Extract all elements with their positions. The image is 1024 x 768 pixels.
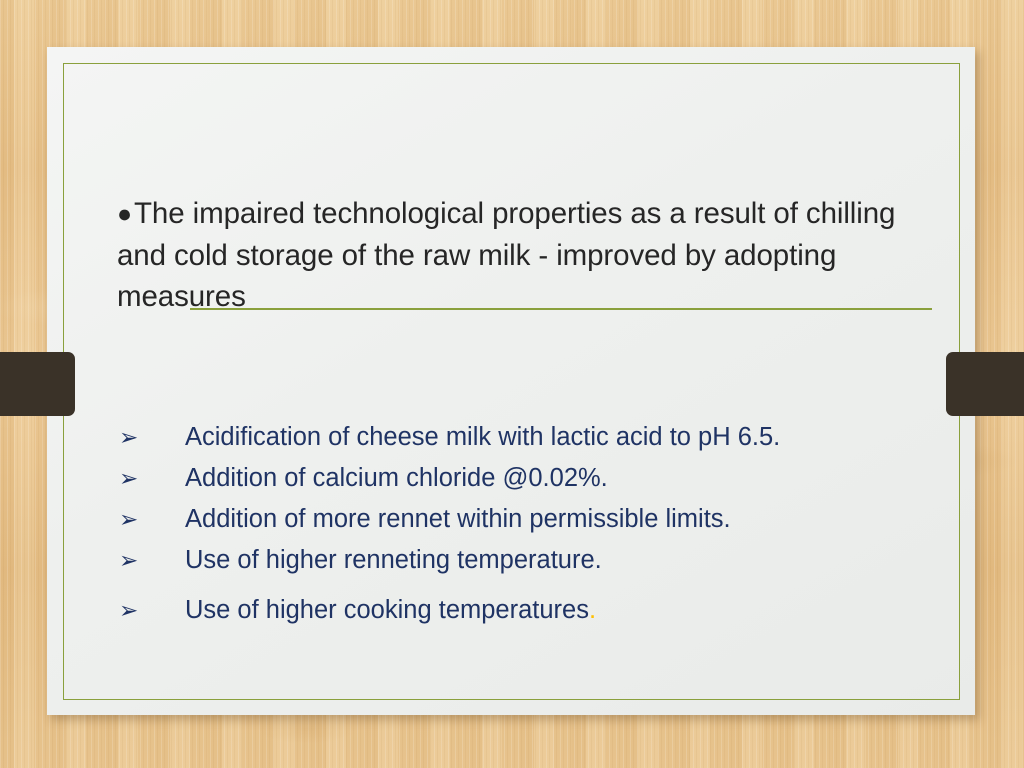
- slide-stage: ●The impaired technological properties a…: [0, 0, 1024, 768]
- list-item-label: Use of higher cooking temperatures: [185, 590, 589, 631]
- arrow-bullet-icon: ➢: [119, 540, 185, 581]
- list-item: ➢ Acidification of cheese milk with lact…: [119, 417, 979, 458]
- list-item-label: Acidification of cheese milk with lactic…: [185, 417, 780, 458]
- list-item: ➢ Use of higher cooking temperatures .: [119, 590, 979, 631]
- arrow-bullet-icon: ➢: [119, 499, 185, 540]
- list-item: ➢ Use of higher renneting temperature.: [119, 540, 979, 581]
- heading-underline-rule: [190, 308, 932, 310]
- list-item-label: Addition of calcium chloride @0.02%.: [185, 458, 608, 499]
- bullet-list: ➢ Acidification of cheese milk with lact…: [119, 417, 979, 631]
- heading-bullet-icon: ●: [117, 200, 132, 228]
- slide-content-card: ●The impaired technological properties a…: [47, 47, 975, 715]
- list-item-label: Use of higher renneting temperature.: [185, 540, 602, 581]
- side-tab-left: [0, 352, 75, 416]
- list-item-label: Addition of more rennet within permissib…: [185, 499, 731, 540]
- heading-text: The impaired technological properties as…: [117, 197, 903, 313]
- arrow-bullet-icon: ➢: [119, 458, 185, 499]
- list-item: ➢ Addition of calcium chloride @0.02%.: [119, 458, 979, 499]
- list-item: ➢ Addition of more rennet within permiss…: [119, 499, 979, 540]
- heading-block: ●The impaired technological properties a…: [117, 193, 947, 317]
- list-item-accent: .: [589, 590, 596, 631]
- arrow-bullet-icon: ➢: [119, 590, 185, 631]
- side-tab-right: [946, 352, 1024, 416]
- arrow-bullet-icon: ➢: [119, 417, 185, 458]
